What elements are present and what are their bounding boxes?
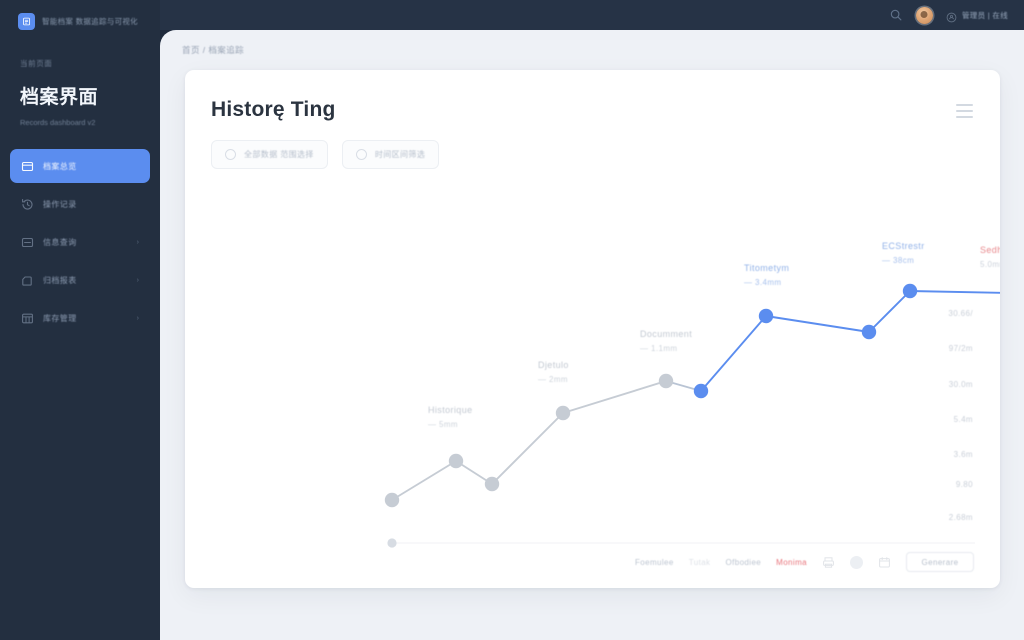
chart-point-s2-2[interactable] (759, 309, 773, 323)
footer-label-minima[interactable]: Monima (776, 558, 807, 567)
sidebar-item-1[interactable]: 档案总览 (10, 149, 150, 183)
account-icon (946, 10, 957, 21)
y-axis-tick-6: 9.80 (956, 480, 973, 489)
app-root: 智能档案 数据追踪与可视化 当前页面 档案界面 Records dashboar… (0, 0, 1024, 640)
sidebar-item-3[interactable]: 信息查询› (10, 225, 150, 259)
footer-label-total[interactable]: Tutak (689, 558, 711, 567)
y-axis-tick-2: 97/2m (949, 344, 973, 353)
topbar: 管理员 | 在线 (160, 0, 1024, 30)
grid-icon (21, 312, 34, 325)
sidebar-subtitle: Records dashboard v2 (20, 118, 140, 127)
chart-plot-area (185, 70, 1000, 588)
brand[interactable]: 智能档案 数据追踪与可视化 (0, 0, 160, 32)
card-footer: FoemuleeTutakOfbodieeMonimaGenerare (185, 552, 1000, 572)
app-logo-icon (18, 13, 35, 30)
y-axis-tick-7: 2.68m (949, 513, 973, 522)
sidebar-item-label: 归档报表 (43, 275, 77, 286)
footer-label-bodies[interactable]: Ofbodiee (725, 558, 761, 567)
folder-icon (21, 274, 34, 287)
sidebar-item-label: 操作记录 (43, 199, 77, 210)
main-content: 首页 / 档案追踪 Historę Ting 全部数据 范围选择时间区间筛选 H… (160, 30, 1024, 640)
chart-point-s2-1[interactable] (694, 384, 708, 398)
chart-card: Historę Ting 全部数据 范围选择时间区间筛选 Historique—… (185, 70, 1000, 588)
sidebar: 智能档案 数据追踪与可视化 当前页面 档案界面 Records dashboar… (0, 0, 160, 640)
search-icon[interactable] (889, 8, 903, 22)
breadcrumb[interactable]: 首页 / 档案追踪 (182, 44, 244, 56)
y-axis-tick-1: 30.66/ (948, 309, 973, 318)
sidebar-eyebrow: 当前页面 (20, 58, 140, 69)
y-axis-tick-5: 3.6m (954, 450, 973, 459)
dashboard-icon (21, 160, 34, 173)
topbar-user-label: 管理员 | 在线 (962, 10, 1008, 21)
footer-circle-icon[interactable] (850, 556, 863, 569)
page-title: 档案界面 (20, 82, 140, 109)
y-axis-tick-4: 5.4m (954, 415, 973, 424)
sidebar-header: 当前页面 档案界面 Records dashboard v2 (0, 32, 160, 127)
sidebar-item-label: 档案总览 (43, 161, 77, 172)
chart-line-series-1 (392, 381, 666, 500)
footer-calendar-icon[interactable] (878, 556, 891, 569)
chart-point-s1-3[interactable] (485, 477, 499, 491)
sidebar-item-4[interactable]: 归档报表› (10, 263, 150, 297)
chevron-right-icon: › (137, 277, 139, 284)
chart-point-s2-4[interactable] (903, 284, 917, 298)
chart-point-s1-2[interactable] (449, 454, 463, 468)
chart-point-s1-1[interactable] (385, 493, 399, 507)
search-file-icon (21, 236, 34, 249)
footer-label-formulae[interactable]: Foemulee (635, 558, 674, 567)
sidebar-item-5[interactable]: 库存管理› (10, 301, 150, 335)
history-icon (21, 198, 34, 211)
chart-point-s1-4[interactable] (556, 406, 570, 420)
topbar-user[interactable]: 管理员 | 在线 (946, 10, 1008, 21)
sidebar-nav: 档案总览操作记录信息查询›归档报表›库存管理› (0, 149, 160, 339)
chart-svg (185, 70, 1000, 588)
chevron-right-icon: › (137, 315, 139, 322)
sidebar-item-label: 库存管理 (43, 313, 77, 324)
y-axis-tick-3: 30.0m (949, 380, 973, 389)
chart-point-s2-3[interactable] (862, 325, 876, 339)
chart-baseline-marker (387, 538, 396, 547)
footer-print-icon[interactable] (822, 556, 835, 569)
brand-name: 智能档案 数据追踪与可视化 (42, 16, 138, 27)
sidebar-item-label: 信息查询 (43, 237, 77, 248)
generate-button[interactable]: Generare (906, 552, 974, 572)
user-avatar[interactable] (916, 7, 933, 24)
sidebar-item-2[interactable]: 操作记录 (10, 187, 150, 221)
chart-point-s1-5[interactable] (659, 374, 673, 388)
chevron-right-icon: › (137, 239, 139, 246)
